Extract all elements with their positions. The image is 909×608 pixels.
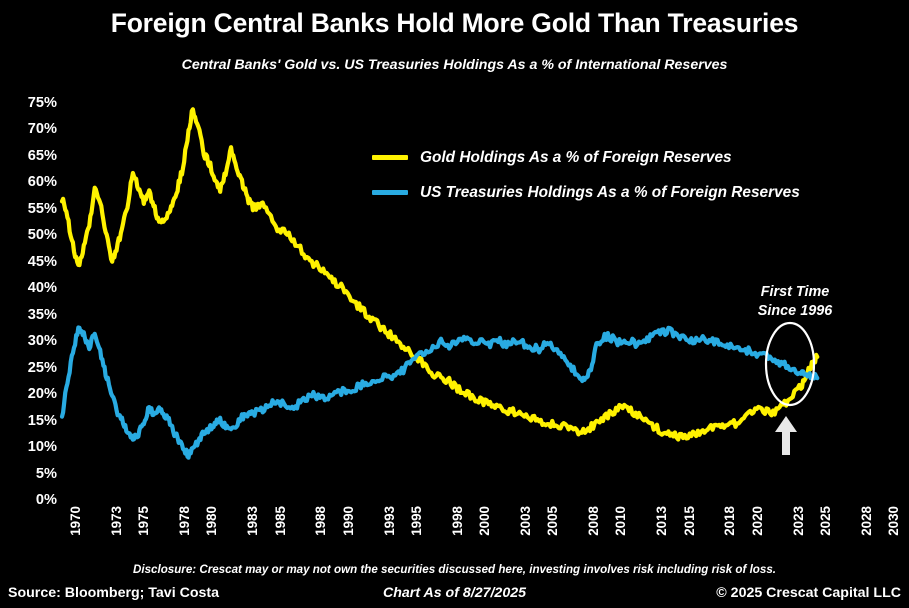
chart-legend: Gold Holdings As a % of Foreign Reserves… [372,140,800,210]
x-axis-tick-label: 2003 [518,506,533,536]
legend-item-gold: Gold Holdings As a % of Foreign Reserves [372,140,800,175]
legend-item-treasuries: US Treasuries Holdings As a % of Foreign… [372,175,800,210]
footer-copyright: © 2025 Crescat Capital LLC [716,585,901,601]
x-axis-tick-label: 1980 [204,506,219,536]
x-axis-tick-label: 2010 [613,506,628,536]
x-axis-tick-label: 2005 [545,506,560,536]
x-axis-tick-label: 2023 [791,506,806,536]
legend-label-gold: Gold Holdings As a % of Foreign Reserves [420,149,732,167]
x-axis-tick-label: 1998 [450,506,465,536]
legend-swatch-gold [372,155,408,160]
x-axis-tick-label: 1988 [313,506,328,536]
x-axis-tick-label: 2018 [722,506,737,536]
chart-container: Foreign Central Banks Hold More Gold Tha… [0,0,909,608]
x-axis-tick-label: 1973 [109,506,124,536]
x-axis-tick-label: 1970 [68,506,83,536]
annotation-line-1: First Time [735,283,855,302]
x-axis-tick-label: 1983 [245,506,260,536]
x-axis-tick-label: 2020 [750,506,765,536]
x-axis-tick-label: 2030 [886,506,901,536]
x-axis-tick-label: 2025 [818,506,833,536]
annotation-line-2: Since 1996 [735,302,855,321]
x-axis-tick-label: 1993 [382,506,397,536]
x-axis-tick-label: 2000 [477,506,492,536]
x-axis-tick-label: 1995 [409,506,424,536]
legend-swatch-treasuries [372,190,408,195]
x-axis-tick-label: 1990 [341,506,356,536]
x-axis-tick-label: 1978 [177,506,192,536]
footer-disclosure: Disclosure: Crescat may or may not own t… [0,563,909,576]
x-axis-tick-label: 2008 [586,506,601,536]
annotation-first-time-since-1996: First Time Since 1996 [735,283,855,321]
x-axis-tick-label: 2015 [682,506,697,536]
x-axis-tick-label: 1985 [273,506,288,536]
legend-label-treasuries: US Treasuries Holdings As a % of Foreign… [420,184,800,202]
x-axis-tick-label: 2028 [859,506,874,536]
x-axis-tick-label: 2013 [654,506,669,536]
x-axis-tick-label: 1975 [136,506,151,536]
